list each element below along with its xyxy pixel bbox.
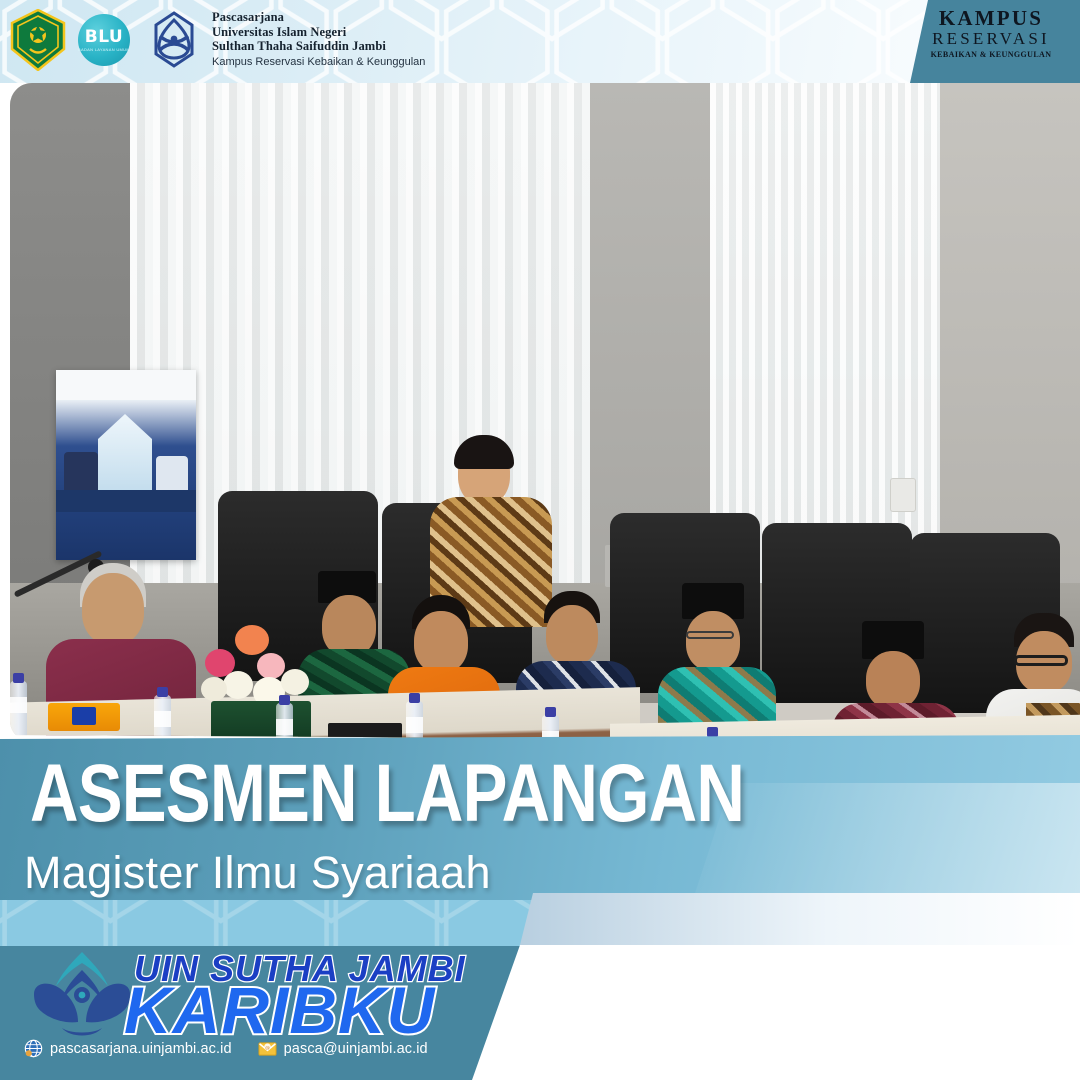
kemenag-logo-icon [10, 9, 66, 71]
wall-outlet [890, 478, 916, 512]
kampus-reservasi-line-1: KAMPUS [910, 7, 1072, 29]
accent-band [0, 900, 1080, 946]
person-3-head [414, 611, 468, 673]
person-7-glasses [1014, 655, 1068, 666]
contact-email[interactable]: @ pasca@uinjambi.ac.id [258, 1039, 428, 1058]
page-title: ASESMEN LAPANGAN [30, 747, 744, 841]
person-4-head [546, 605, 598, 665]
kampus-reservasi-badge: KAMPUS RESERVASI KEBAIKAN & KEUNGGULAN [910, 0, 1080, 83]
water-bottle-1 [10, 681, 27, 741]
hexagon-pattern-accent [0, 900, 1080, 946]
kampus-reservasi-line-2: RESERVASI [910, 29, 1072, 49]
kampus-reservasi-line-3: KEBAIKAN & KEUNGGULAN [910, 49, 1072, 60]
institution-line-3: Sulthan Thaha Saifuddin Jambi [212, 39, 425, 54]
water-bottle-3 [276, 703, 293, 741]
footer-contacts-right: pascasarjana.uinjambi.ac.id pascasarjana… [615, 1039, 1062, 1058]
contact-facebook[interactable]: pascasarjana.uinjambi.ac.id [854, 1039, 1062, 1058]
banner-header-strip [56, 370, 196, 400]
event-photo [10, 83, 1080, 741]
flower-rose-white-1 [223, 671, 253, 699]
water-bottle-4 [406, 701, 423, 741]
flower-lily [235, 625, 269, 655]
person-5-glasses [686, 631, 734, 639]
notebook-1 [328, 723, 402, 739]
contact-instagram-text: pascasarjana.uinjambi.ac.id [657, 1041, 839, 1057]
institution-line-2: Universitas Islam Negeri [212, 25, 425, 40]
blu-logo-icon: BLU BADAN LAYANAN UMUM [78, 14, 130, 66]
page-subtitle: Magister Ilmu Syariaah [24, 847, 491, 899]
karibku-line-2: KARIBKU [124, 972, 435, 1048]
page-footer: UIN SUTHA JAMBI KARIBKU pascasarjana.uin… [0, 946, 1080, 1080]
blu-label: BLU [85, 29, 124, 46]
uin-sts-logo-icon [142, 8, 206, 72]
title-banner: ASESMEN LAPANGAN Magister Ilmu Syariaah [0, 735, 1080, 903]
flower-rose-pink [257, 653, 285, 679]
blu-sublabel: BADAN LAYANAN UMUM [78, 47, 130, 52]
contact-instagram[interactable]: pascasarjana.uinjambi.ac.id [631, 1039, 839, 1058]
svg-text:@: @ [265, 1045, 270, 1051]
email-icon: @ [258, 1039, 277, 1058]
roll-banner [56, 370, 196, 560]
instagram-icon [631, 1039, 650, 1058]
institution-line-1: Pascasarjana [212, 10, 425, 25]
contact-facebook-text: pascasarjana.uinjambi.ac.id [880, 1041, 1062, 1057]
water-bottle-2 [154, 695, 171, 741]
flower-rose-white-3 [281, 669, 309, 695]
institution-tagline: Kampus Reservasi Kebaikan & Keunggulan [212, 55, 425, 69]
contact-website[interactable]: pascasarjana.uinjambi.ac.id [24, 1039, 232, 1058]
globe-icon [24, 1039, 43, 1058]
contact-website-text: pascasarjana.uinjambi.ac.id [50, 1041, 232, 1057]
person-6-head [866, 651, 920, 709]
person-1-head [82, 573, 144, 645]
event-photo-scene [10, 83, 1080, 741]
tissue-box [48, 703, 120, 731]
karibku-wordmark: UIN SUTHA JAMBI KARIBKU [124, 948, 484, 1048]
flower-rose-white-4 [201, 677, 227, 701]
header-institution-text: Pascasarjana Universitas Islam Negeri Su… [212, 10, 425, 69]
banner-text-bar [56, 490, 196, 512]
facebook-thumb-icon [854, 1039, 873, 1058]
footer-contacts-left: pascasarjana.uinjambi.ac.id @ pasca@uinj… [24, 1039, 444, 1058]
person-2-head [322, 595, 376, 657]
contact-email-text: pasca@uinjambi.ac.id [284, 1041, 428, 1057]
flower-arrangement [195, 619, 330, 739]
flower-vase [211, 701, 311, 741]
page-header: BLU BADAN LAYANAN UMUM Pascasarjana Univ… [0, 0, 1080, 83]
person-5-head [686, 611, 740, 671]
